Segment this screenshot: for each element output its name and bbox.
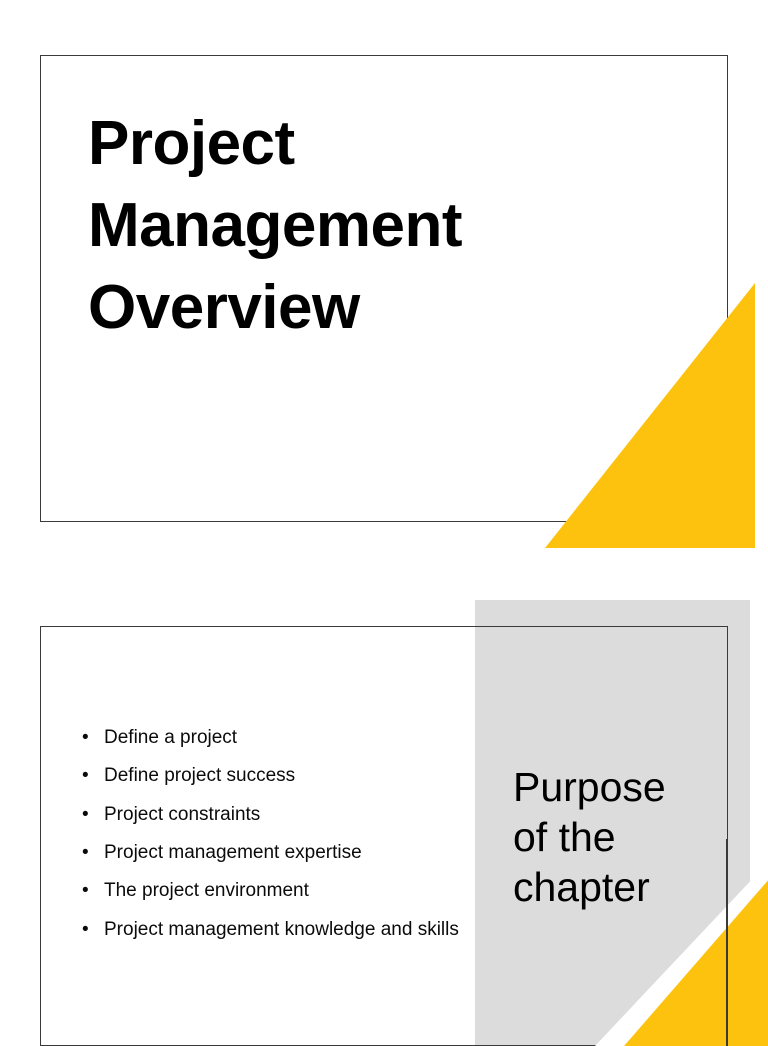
slide-2[interactable]: • Define a project • Define project succ…	[40, 626, 728, 1046]
slide-1-title: Project Management Overview	[88, 103, 688, 348]
bullet-dot-icon: •	[82, 918, 104, 942]
slide-2-bullet-list: • Define a project • Define project succ…	[82, 726, 472, 942]
slide-2-border-overlay	[726, 839, 728, 1046]
slide-2-heading: Purpose of the chapter	[513, 762, 713, 912]
bullet-dot-icon: •	[82, 764, 104, 788]
slide-deck-page: Project Management Overview • Define a p…	[0, 0, 768, 1024]
list-item: • Project constraints	[82, 803, 472, 827]
bullet-dot-icon: •	[82, 879, 104, 903]
bullet-dot-icon: •	[82, 841, 104, 865]
list-item: • Project management knowledge and skill…	[82, 918, 472, 942]
bullet-dot-icon: •	[82, 803, 104, 827]
slide-1[interactable]: Project Management Overview	[40, 55, 728, 522]
list-item-label: The project environment	[104, 879, 472, 903]
list-item-label: Project constraints	[104, 803, 472, 827]
list-item-label: Define a project	[104, 726, 472, 750]
bullet-dot-icon: •	[82, 726, 104, 750]
list-item: • Project management expertise	[82, 841, 472, 865]
list-item-label: Project management expertise	[104, 841, 472, 865]
list-item-label: Define project success	[104, 764, 472, 788]
list-item-label: Project management knowledge and skills	[104, 918, 472, 942]
list-item: • Define a project	[82, 726, 472, 750]
list-item: • Define project success	[82, 764, 472, 788]
list-item: • The project environment	[82, 879, 472, 903]
